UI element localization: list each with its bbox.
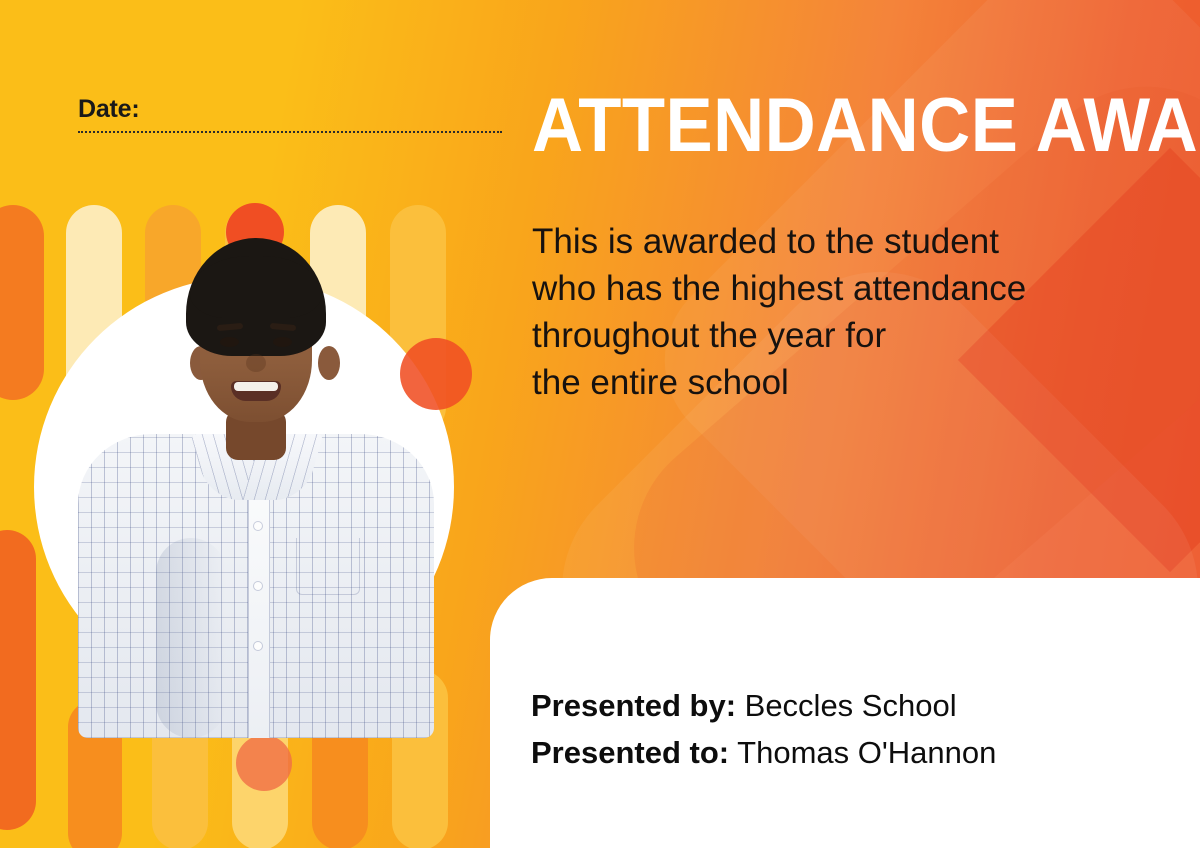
presented-by-row: Presented by: Beccles School — [531, 682, 996, 729]
presented-by-value: Beccles School — [745, 688, 957, 723]
mouth — [231, 381, 281, 401]
shirt-button — [254, 522, 262, 530]
eye-left — [220, 337, 239, 347]
page-title: ATTENDANCE AWARD — [532, 88, 1200, 164]
ear-right — [318, 346, 340, 380]
date-label: Date: — [78, 97, 502, 122]
circle-accent-bottom — [236, 735, 292, 791]
award-description-line: who has the highest attendance — [532, 265, 1152, 312]
shirt-button — [254, 582, 262, 590]
award-description-line: the entire school — [532, 359, 1152, 406]
teeth — [234, 382, 278, 391]
award-description-line: This is awarded to the student — [532, 218, 1152, 265]
pill-bar-7 — [0, 530, 36, 830]
date-dotted-line — [78, 131, 502, 133]
eye-right — [273, 337, 292, 347]
student-portrait — [60, 238, 450, 738]
presented-block: Presented by: Beccles School Presented t… — [531, 682, 996, 776]
presented-to-label: Presented to: — [531, 735, 729, 770]
presented-to-value: Thomas O'Hannon — [737, 735, 996, 770]
pill-bar-1 — [0, 205, 44, 400]
attendance-award-certificate: Date: ATTENDANCE AWARD This is awarded t… — [0, 0, 1200, 848]
presented-by-label: Presented by: — [531, 688, 736, 723]
award-description-line: throughout the year for — [532, 312, 1152, 359]
nose — [246, 354, 266, 372]
shirt-shadow — [156, 538, 226, 738]
hair-fringe — [190, 256, 322, 318]
shirt-pocket — [296, 538, 360, 595]
presented-to-row: Presented to: Thomas O'Hannon — [531, 729, 996, 776]
date-field[interactable]: Date: — [78, 97, 502, 133]
award-description: This is awarded to the student who has t… — [532, 218, 1152, 406]
shirt-button — [254, 642, 262, 650]
